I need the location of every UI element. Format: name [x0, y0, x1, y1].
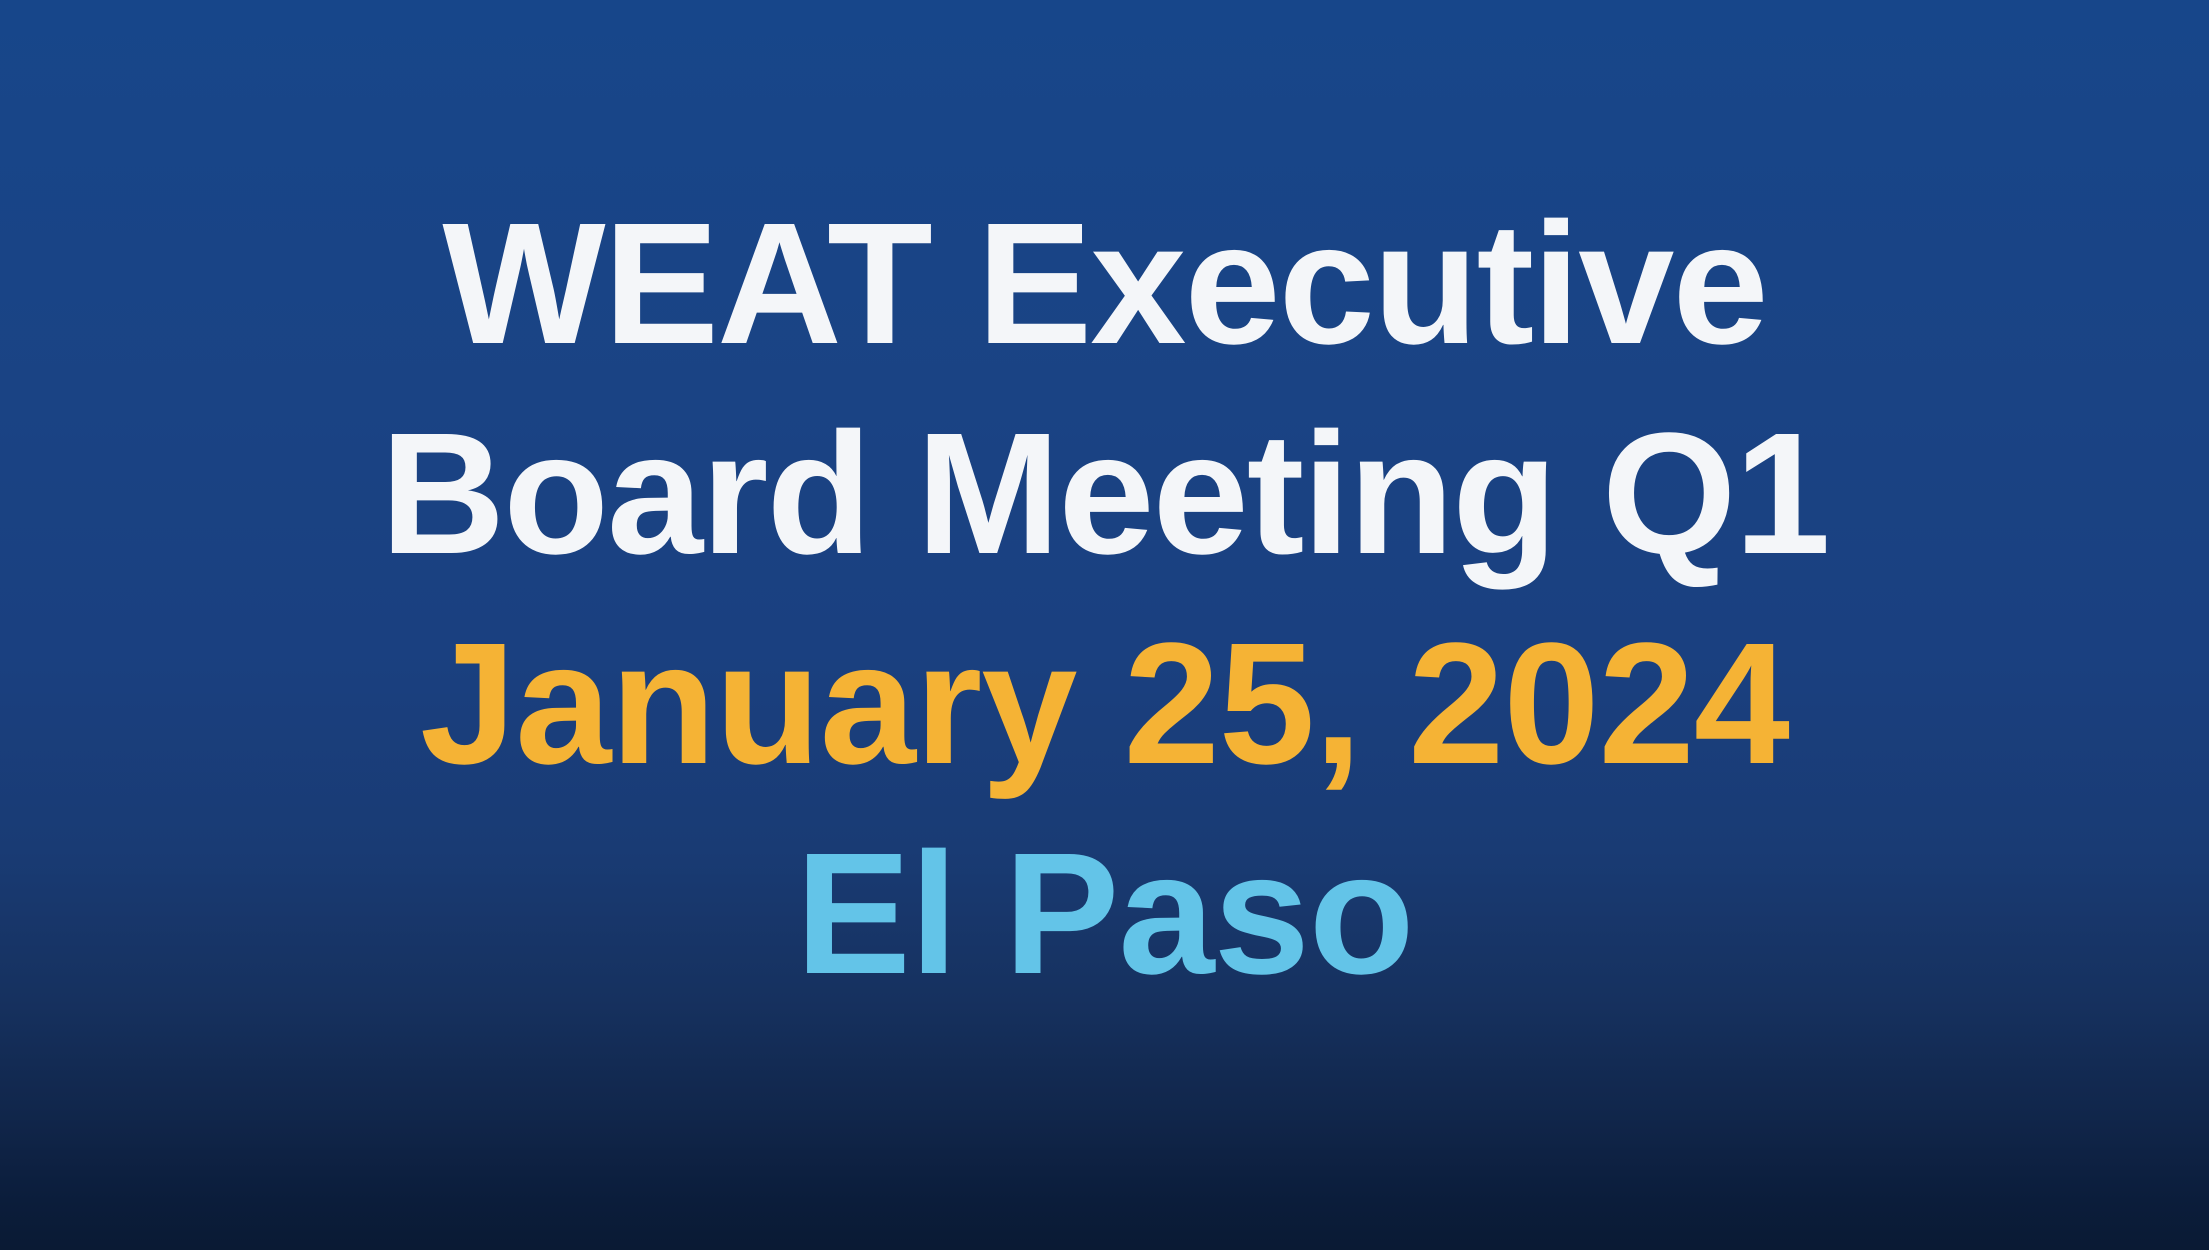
title-block: WEAT Executive Board Meeting Q1 January …: [0, 178, 2209, 1018]
title-line-organization: WEAT Executive: [0, 178, 2209, 388]
title-line-location: El Paso: [0, 808, 2209, 1018]
title-line-meeting-type: Board Meeting Q1: [0, 388, 2209, 598]
title-line-date: January 25, 2024: [0, 598, 2209, 808]
title-slide: WEAT Executive Board Meeting Q1 January …: [0, 0, 2209, 1250]
